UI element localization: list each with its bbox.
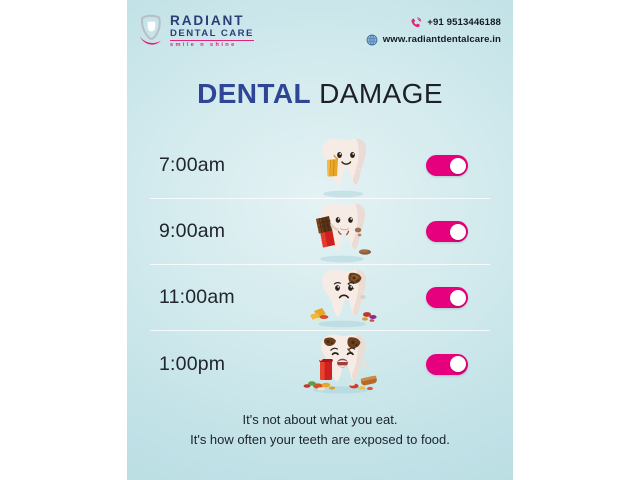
timeline-list: 7:00am xyxy=(150,133,490,397)
toggle-switch-on-icon[interactable] xyxy=(426,155,468,176)
page-title: DENTAL DAMAGE xyxy=(127,78,513,110)
row-toggle-cell xyxy=(404,287,490,308)
row-time-label: 11:00am xyxy=(150,286,278,309)
brand-name-line1: RADIANT xyxy=(170,14,254,28)
brand-logo-wordmark: RADIANT DENTAL CARE smile n shine xyxy=(170,13,254,48)
tooth-with-chocolate-bar-icon xyxy=(278,199,404,265)
row-toggle-cell xyxy=(404,155,490,176)
row-toggle-cell xyxy=(404,354,490,375)
poster-header: RADIANT DENTAL CARE smile n shine +91 95… xyxy=(127,6,513,56)
row-toggle-cell xyxy=(404,221,490,242)
phone-call-icon xyxy=(410,17,422,29)
row-time-label: 1:00pm xyxy=(150,353,278,376)
phone-number: +91 9513446188 xyxy=(427,17,501,28)
timeline-row: 9:00am xyxy=(150,199,490,265)
contact-info: +91 9513446188 www.radiantdentalcare.in xyxy=(366,17,501,46)
phone-contact-row[interactable]: +91 9513446188 xyxy=(410,17,501,29)
timeline-row: 1:00pm xyxy=(150,331,490,397)
timeline-row: 11:00am xyxy=(150,265,490,331)
brand-logo[interactable]: RADIANT DENTAL CARE smile n shine xyxy=(138,13,254,48)
globe-icon xyxy=(366,34,378,46)
toggle-switch-on-icon[interactable] xyxy=(426,287,468,308)
toggle-switch-on-icon[interactable] xyxy=(426,221,468,242)
poster-caption: It's not about what you eat. It's how of… xyxy=(127,410,513,449)
toggle-switch-on-icon[interactable] xyxy=(426,354,468,375)
happy-tooth-with-snack-icon xyxy=(278,133,404,199)
dental-damage-poster: RADIANT DENTAL CARE smile n shine +91 95… xyxy=(127,0,513,480)
caption-line-2: It's how often your teeth are exposed to… xyxy=(127,430,513,450)
timeline-row: 7:00am xyxy=(150,133,490,199)
sad-tooth-with-decay-icon xyxy=(278,265,404,331)
brand-logo-underline xyxy=(170,40,254,42)
row-time-label: 7:00am xyxy=(150,154,278,177)
crying-tooth-with-junk-food-icon xyxy=(278,331,404,397)
caption-line-1: It's not about what you eat. xyxy=(127,410,513,430)
website-url: www.radiantdentalcare.in xyxy=(383,34,501,45)
brand-name-line2: DENTAL CARE xyxy=(170,29,254,39)
tooth-shield-icon xyxy=(138,14,165,48)
brand-tagline: smile n shine xyxy=(170,43,254,49)
screenshot-canvas: RADIANT DENTAL CARE smile n shine +91 95… xyxy=(0,0,640,480)
website-contact-row[interactable]: www.radiantdentalcare.in xyxy=(366,34,501,46)
page-title-bold: DENTAL xyxy=(197,78,311,109)
page-title-light: DAMAGE xyxy=(319,78,443,109)
row-time-label: 9:00am xyxy=(150,220,278,243)
